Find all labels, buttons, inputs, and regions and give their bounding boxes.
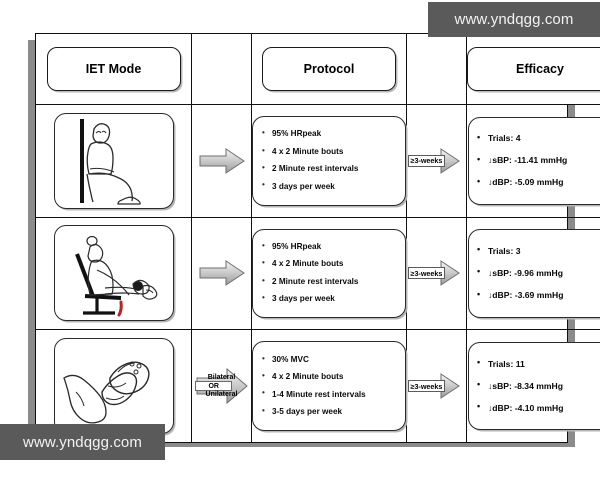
- row-2-mode-cell: [36, 217, 191, 330]
- efficacy-item: Trials: 4: [473, 128, 600, 150]
- row-3-protocol-box: 30% MVC 4 x 2 Minute bouts 1-4 Minute re…: [252, 341, 406, 431]
- row-1-duration-label: ≥3-weeks: [408, 155, 445, 167]
- row-3-efficacy-box: Trials: 11 ↓sBP: -8.34 mmHg ↓dBP: -4.10 …: [468, 342, 600, 430]
- watermark-bottom: www.yndqgg.com: [0, 424, 165, 460]
- row-3-protocol-cell: 30% MVC 4 x 2 Minute bouts 1-4 Minute re…: [251, 329, 406, 442]
- row-1-efficacy-cell: Trials: 4 ↓sBP: -11.41 mmHg ↓dBP: -5.09 …: [466, 104, 600, 217]
- efficacy-item: Trials: 3: [473, 240, 600, 262]
- row-3-or-label: OR: [195, 381, 232, 391]
- header-cell-mode: IET Mode: [36, 34, 191, 104]
- row-1-protocol-box: 95% HRpeak 4 x 2 Minute bouts 2 Minute r…: [252, 116, 406, 206]
- header-mode-label: IET Mode: [86, 62, 142, 76]
- header-efficacy-label: Efficacy: [516, 62, 564, 76]
- row-2-protocol-box: 95% HRpeak 4 x 2 Minute bouts 2 Minute r…: [252, 229, 406, 319]
- header-protocol-label: Protocol: [304, 62, 355, 76]
- row-1-protocol-cell: 95% HRpeak 4 x 2 Minute bouts 2 Minute r…: [251, 104, 406, 217]
- wall-squat-figure-icon: [54, 113, 174, 209]
- row-3-bilateral-label: Bilateral: [192, 374, 251, 381]
- row-3-duration-label: ≥3-weeks: [408, 380, 445, 392]
- header-cell-efficacy: Efficacy: [466, 34, 600, 104]
- row-3-unilateral-label: Unilateral: [192, 391, 251, 398]
- row-3-transition-arrow-cell: Bilateral OR Unilateral: [191, 329, 251, 442]
- protocol-item: 2 Minute rest intervals: [259, 273, 397, 290]
- protocol-item: 95% HRpeak: [259, 239, 397, 256]
- watermark-top: www.yndqgg.com: [428, 2, 600, 37]
- row-2-protocol-cell: 95% HRpeak 4 x 2 Minute bouts 2 Minute r…: [251, 217, 406, 330]
- protocol-item: 3 days per week: [259, 291, 397, 308]
- header-efficacy-box: Efficacy: [467, 47, 600, 91]
- efficacy-item: ↓dBP: -3.69 mmHg: [473, 285, 600, 307]
- protocol-item: 3 days per week: [259, 178, 397, 195]
- iet-summary-figure: IET Mode Protocol Efficacy: [35, 33, 568, 443]
- header-mode-box: IET Mode: [47, 47, 181, 91]
- row-1-efficacy-box: Trials: 4 ↓sBP: -11.41 mmHg ↓dBP: -5.09 …: [468, 117, 600, 205]
- header-cell-gap-1: [191, 34, 251, 104]
- protocol-item: 30% MVC: [259, 351, 397, 368]
- efficacy-item: ↓sBP: -9.96 mmHg: [473, 262, 600, 284]
- row-1-duration-arrow-cell: ≥3-weeks: [406, 104, 466, 217]
- header-cell-protocol: Protocol: [251, 34, 406, 104]
- efficacy-item: ↓sBP: -11.41 mmHg: [473, 150, 600, 172]
- grey-arrow-icon: [199, 259, 245, 287]
- handgrip-dynamometer-icon: [54, 338, 174, 434]
- protocol-item: 1-4 Minute rest intervals: [259, 386, 397, 403]
- row-1-mode-cell: [36, 104, 191, 217]
- row-2-transition-arrow-cell: [191, 217, 251, 330]
- protocol-item: 2 Minute rest intervals: [259, 161, 397, 178]
- row-1-transition-arrow-cell: [191, 104, 251, 217]
- efficacy-item: ↓dBP: -5.09 mmHg: [473, 172, 600, 194]
- row-2-duration-label: ≥3-weeks: [408, 267, 445, 279]
- row-3-efficacy-cell: Trials: 11 ↓sBP: -8.34 mmHg ↓dBP: -4.10 …: [466, 329, 600, 442]
- grey-arrow-icon: [199, 147, 245, 175]
- efficacy-item: ↓dBP: -4.10 mmHg: [473, 397, 600, 419]
- protocol-item: 4 x 2 Minute bouts: [259, 256, 397, 273]
- row-2-duration-arrow-cell: ≥3-weeks: [406, 217, 466, 330]
- row-2-efficacy-cell: Trials: 3 ↓sBP: -9.96 mmHg ↓dBP: -3.69 m…: [466, 217, 600, 330]
- header-cell-gap-2: [406, 34, 466, 104]
- row-2-efficacy-box: Trials: 3 ↓sBP: -9.96 mmHg ↓dBP: -3.69 m…: [468, 229, 600, 317]
- row-3-duration-arrow-cell: ≥3-weeks: [406, 329, 466, 442]
- protocol-item: 4 x 2 Minute bouts: [259, 143, 397, 160]
- efficacy-item: ↓sBP: -8.34 mmHg: [473, 375, 600, 397]
- header-protocol-box: Protocol: [262, 47, 396, 91]
- efficacy-item: Trials: 11: [473, 353, 600, 375]
- seated-leg-extension-figure-icon: [54, 225, 174, 321]
- protocol-item: 95% HRpeak: [259, 126, 397, 143]
- protocol-item: 3-5 days per week: [259, 404, 397, 421]
- protocol-item: 4 x 2 Minute bouts: [259, 369, 397, 386]
